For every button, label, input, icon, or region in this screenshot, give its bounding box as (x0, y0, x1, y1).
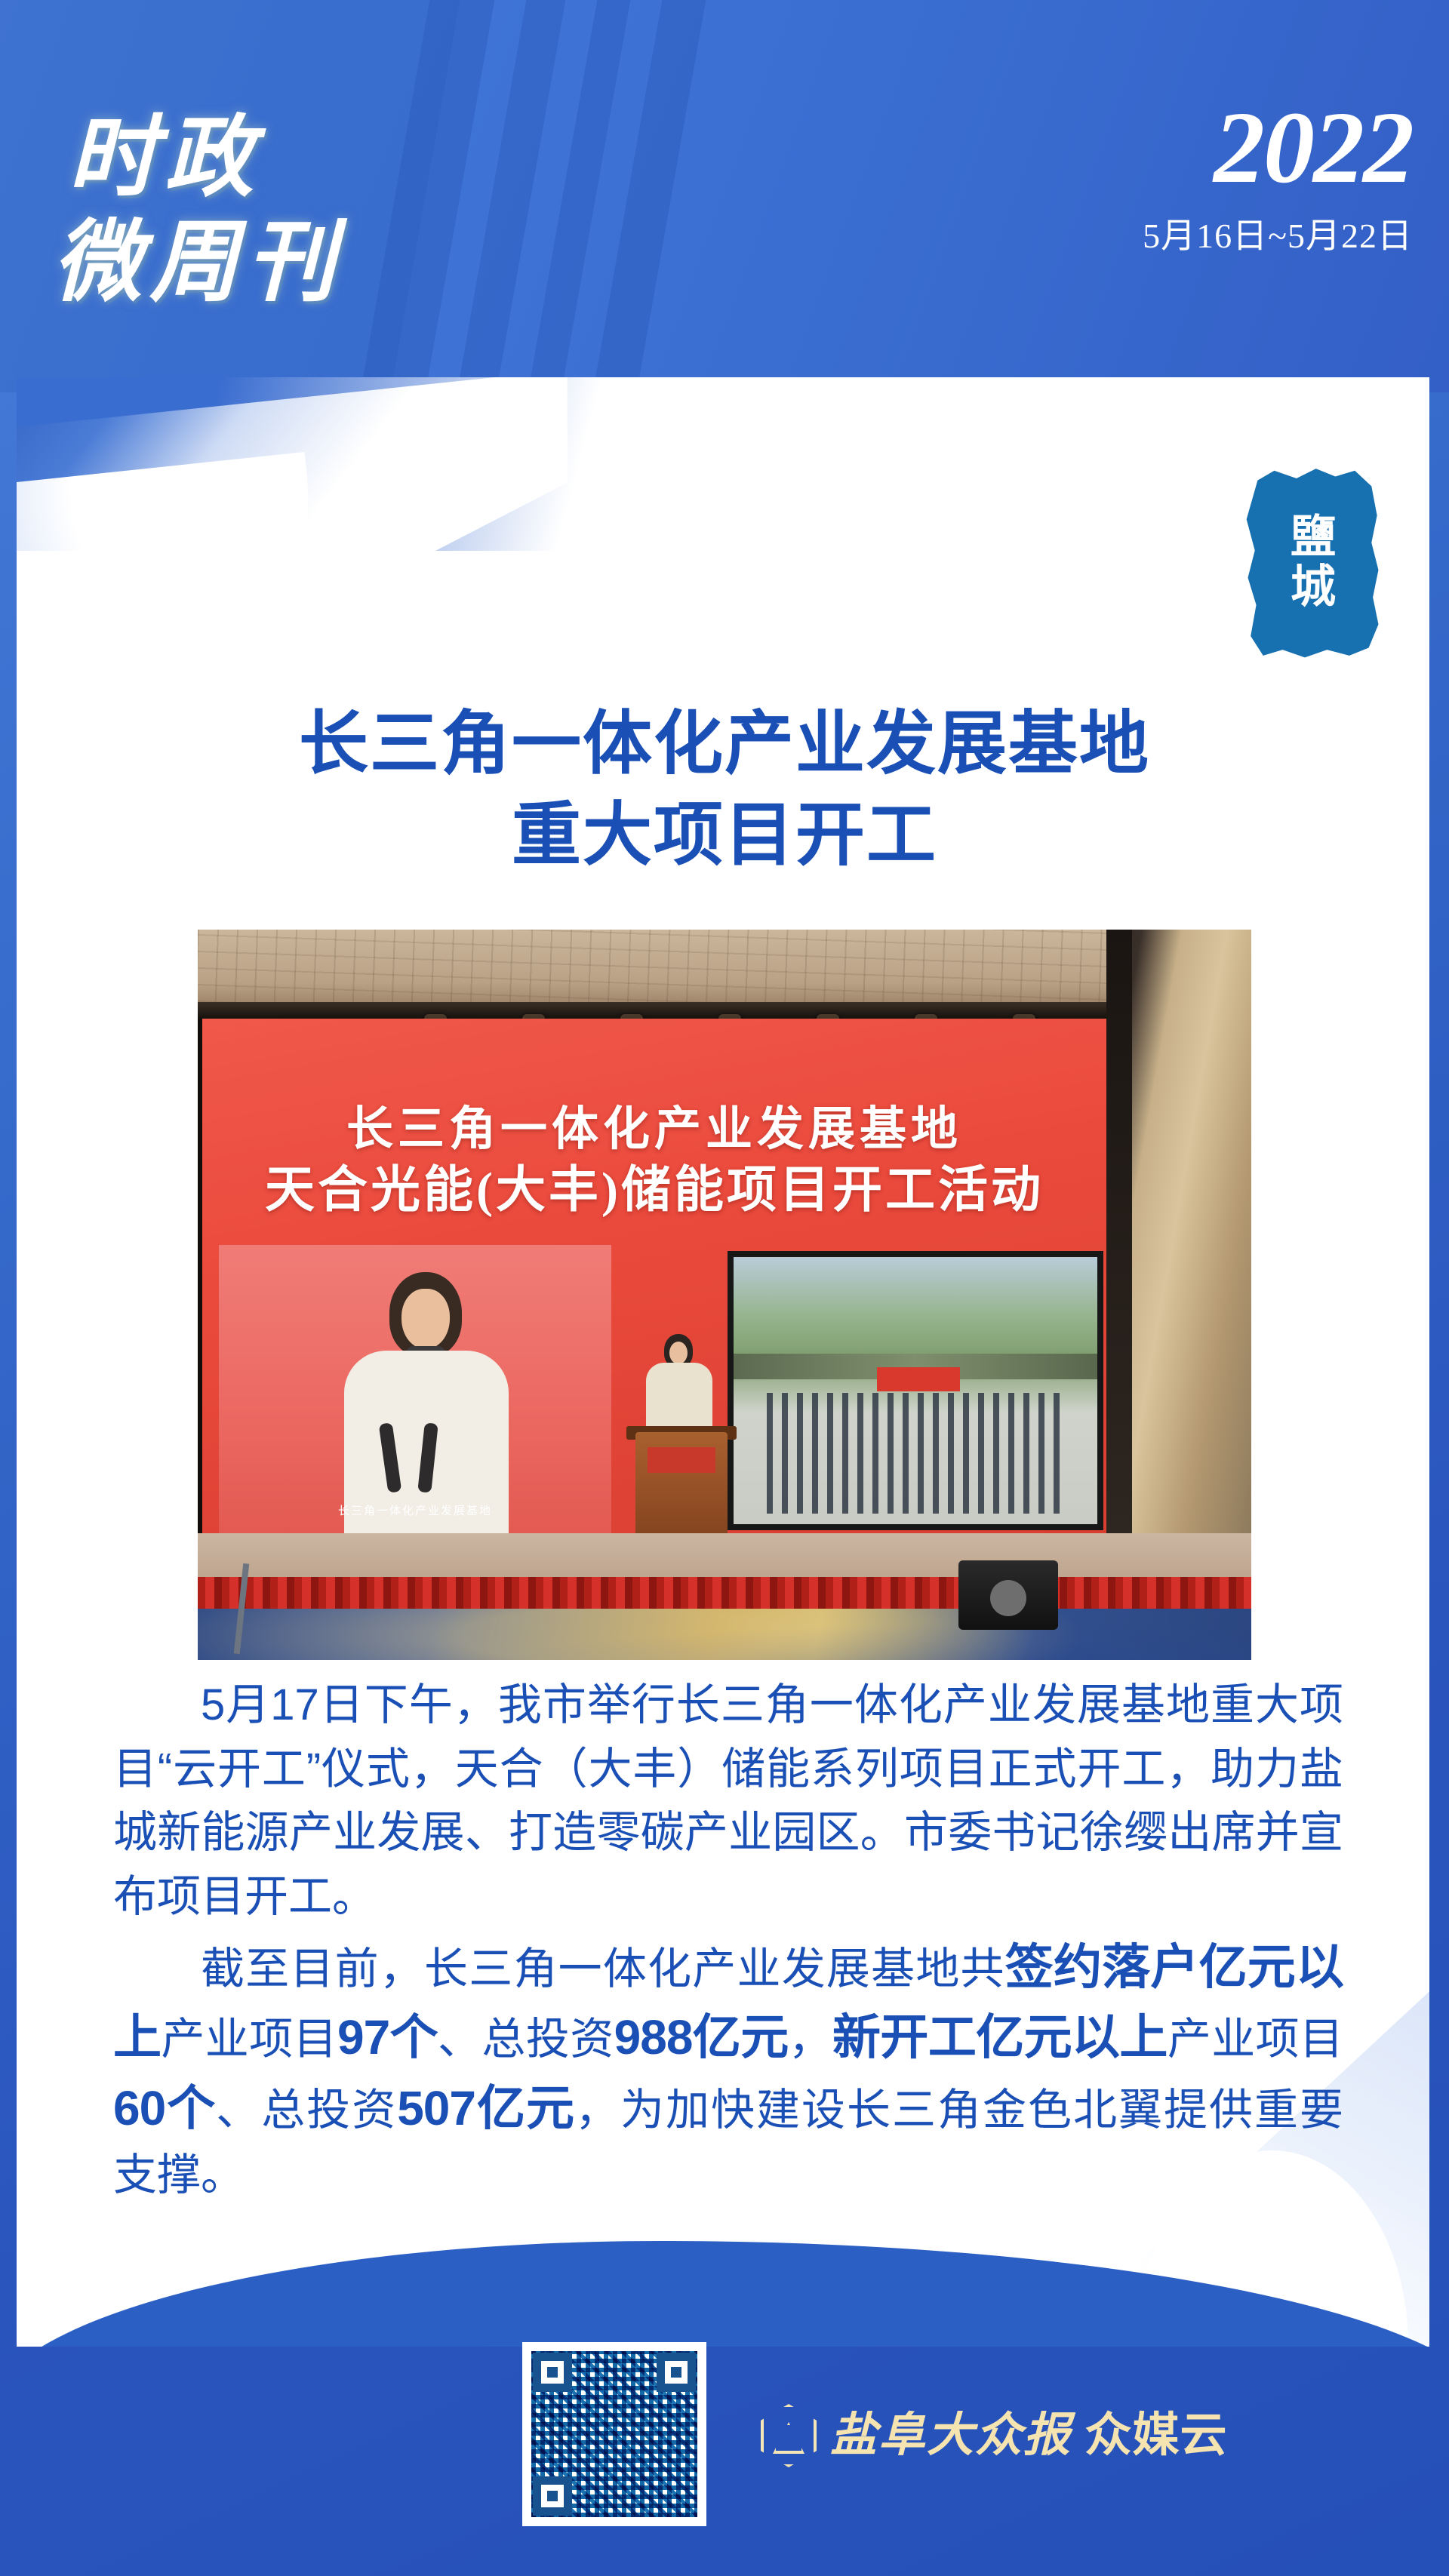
publication-brand: 时政 微周刊 (53, 106, 377, 315)
article-body: 5月17日下午，我市举行长三角一体化产业发展基地重大项目“云开工”仪式，天合（大… (113, 1674, 1343, 2211)
aerial-site-view (734, 1257, 1097, 1524)
photo-speaker-cone (990, 1580, 1026, 1616)
page-title-line-1: 长三角一体化产业发展基地 (0, 699, 1449, 790)
brand-line-1: 时政 (53, 106, 377, 211)
poster-header: 时政 微周刊 2022 5月16日~5月22日 (0, 0, 1449, 392)
led-inset-speaker-closeup: 长三角一体化产业发展基地 (219, 1245, 611, 1533)
article-text: 5月17日下午，我市举行长三角一体化产业发展基地重大项目“云开工”仪式，天合（大… (113, 1680, 1343, 1921)
led-inset-caption: 长三角一体化产业发展基地 (219, 1502, 611, 1518)
brand-line-2: 微周刊 (53, 211, 377, 315)
article-text: ， (789, 2015, 832, 2064)
article-text: 、总投资 (438, 2015, 614, 2064)
photo-wall-pillar (1106, 930, 1132, 1538)
seal-label: 鹽 城 (1244, 465, 1383, 659)
podium-speaker-face (669, 1342, 688, 1364)
qr-finder-bottom-left (533, 2476, 572, 2516)
publisher-logo-text: 盐阜大众报 众媒云 (830, 2412, 1228, 2459)
podium-sign (648, 1447, 715, 1473)
led-screen-title-line-1: 长三角一体化产业发展基地 (202, 1100, 1106, 1159)
qr-finder-top-left (533, 2353, 572, 2392)
publisher-name: 盐阜大众报 (830, 2410, 1072, 2461)
site-attendee-rows (767, 1393, 1069, 1514)
article-text: 产业项目 (1168, 2015, 1343, 2064)
seal-char-1: 鹽 (1291, 515, 1336, 560)
site-banner (877, 1367, 960, 1391)
city-seal-badge: 鹽 城 (1244, 465, 1383, 659)
poster-footer: 盐阜大众报 众媒云 (0, 2309, 1449, 2576)
article-highlight: 60个 (113, 2081, 216, 2135)
article-paragraph-2: 截至目前，长三角一体化产业发展基地共签约落户亿元以上产业项目97个、总投资988… (113, 1932, 1343, 2208)
article-text: 、总投资 (216, 2086, 397, 2135)
issue-year: 2022 (1214, 97, 1413, 199)
page-title: 长三角一体化产业发展基地 重大项目开工 (0, 699, 1449, 882)
photo-carpet-pattern (198, 1609, 1251, 1660)
speaker-face (401, 1289, 450, 1349)
qr-code[interactable] (522, 2342, 706, 2526)
seal-char-2: 城 (1291, 564, 1336, 610)
page-title-line-2: 重大项目开工 (0, 790, 1449, 881)
qr-code-matrix (531, 2351, 697, 2517)
issue-date-range: 5月16日~5月22日 (1143, 219, 1413, 254)
publisher-logo-icon (761, 2404, 817, 2467)
article-paragraph-1: 5月17日下午，我市举行长三角一体化产业发展基地重大项目“云开工”仪式，天合（大… (113, 1674, 1343, 1929)
article-highlight: 988亿元 (614, 2010, 789, 2064)
article-highlight: 97个 (337, 2010, 438, 2064)
article-highlight: 507亿元 (397, 2081, 575, 2135)
article-highlight: 新开工亿元以上 (832, 2010, 1168, 2064)
article-text: 截至目前，长三角一体化产业发展基地共 (201, 1944, 1005, 1993)
led-screen-title-line-2: 天合光能(大丰)储能项目开工活动 (202, 1159, 1106, 1222)
article-text: 产业项目 (161, 2015, 337, 2064)
qr-finder-top-right (657, 2353, 696, 2392)
event-photo: 长三角一体化产业发展基地 天合光能(大丰)储能项目开工活动 长三角一体化产业发展… (198, 930, 1251, 1660)
publisher-logo: 盐阜大众报 众媒云 (761, 2404, 1228, 2467)
led-inset-site-feed (728, 1251, 1103, 1530)
photo-led-screen: 长三角一体化产业发展基地 天合光能(大丰)储能项目开工活动 长三角一体化产业发展… (202, 1019, 1106, 1533)
publisher-platform-name: 众媒云 (1085, 2410, 1228, 2461)
poster-root: 时政 微周刊 2022 5月16日~5月22日 鹽 城 长三角一体化产业发展基地… (0, 0, 1449, 2576)
podium-speaker-body (646, 1363, 712, 1435)
